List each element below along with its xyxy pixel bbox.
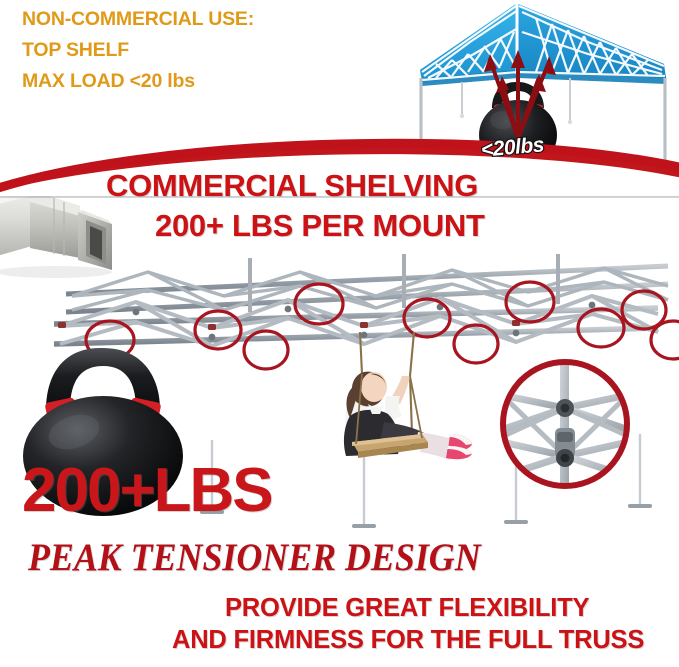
peak-tensioner-design-label: PEAK TENSIONER DESIGN (28, 535, 481, 580)
infographic-canvas: <20lbs (0, 0, 679, 667)
headline-commercial-shelving: COMMERCIAL SHELVING (106, 168, 478, 204)
warning-line-1: NON-COMMERCIAL USE: (22, 4, 352, 35)
peak-tensioner-detail (487, 348, 647, 503)
capacity-big-label: 200+LBS (22, 455, 272, 526)
warning-line-2: TOP SHELF (22, 35, 352, 66)
benefit-line-2: AND FIRMNESS FOR THE FULL TRUSS (172, 626, 644, 655)
warning-line-3: MAX LOAD <20 lbs (22, 66, 352, 97)
non-commercial-use-warning: NON-COMMERCIAL USE: TOP SHELF MAX LOAD <… (22, 4, 352, 97)
headline-lbs-per-mount: 200+ LBS PER MOUNT (155, 208, 485, 244)
child-on-swing-icon (318, 330, 488, 465)
benefit-line-1: PROVIDE GREAT FLEXIBILITY (225, 594, 589, 623)
